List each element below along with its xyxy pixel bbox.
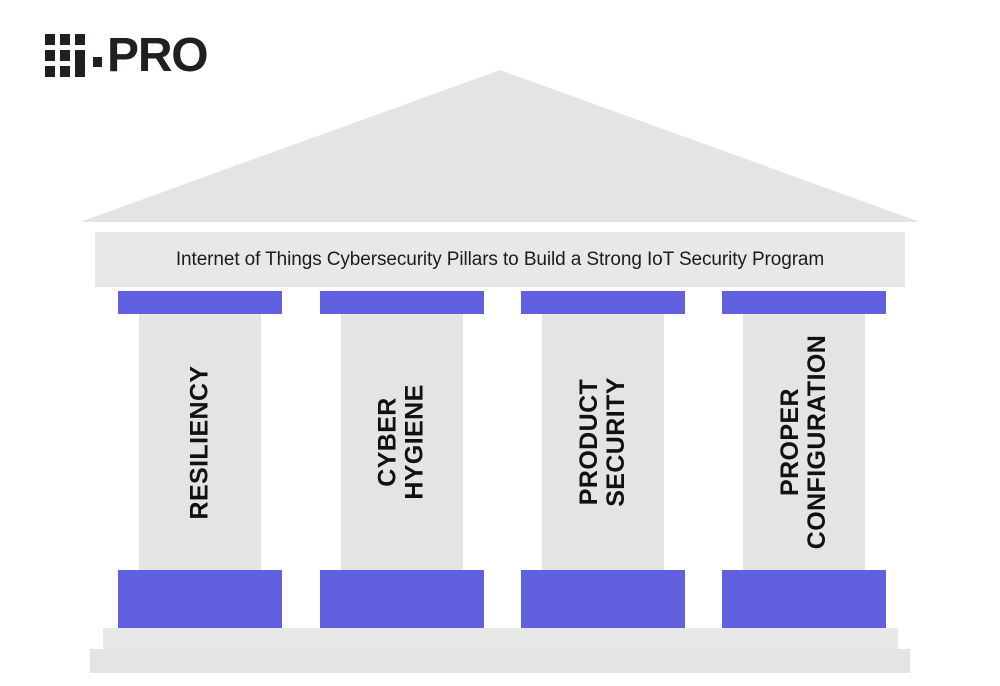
pillar-base-1 [118,570,282,628]
pillar-capital-2 [320,291,484,314]
pillar-capital-4 [722,291,886,314]
pillar-resiliency: RESILIENCY [118,291,282,628]
pillar-capital-1 [118,291,282,314]
pillar-label-4-line2: CONFIGURATION [804,335,831,549]
pillar-label-2: CYBER HYGIENE [341,314,463,570]
page-title: Internet of Things Cybersecurity Pillars… [95,232,905,287]
pillar-label-4: PROPER CONFIGURATION [743,314,865,570]
pillar-proper-configuration: PROPER CONFIGURATION [722,291,886,628]
pillar-label-3-line2: SECURITY [603,377,630,507]
pillar-base-2 [320,570,484,628]
pillar-label-2-line1: CYBER [374,397,402,487]
platform-lower-step [90,649,910,673]
temple-diagram: Internet of Things Cybersecurity Pillars… [0,0,1000,686]
pillar-label-4-line1: PROPER [776,388,804,496]
entablature-band: Internet of Things Cybersecurity Pillars… [95,232,905,287]
pillar-label-1: RESILIENCY [139,314,261,570]
pediment-roof [80,70,920,222]
platform-upper-step [103,628,898,649]
pillar-label-3: PRODUCT SECURITY [542,314,664,570]
pillar-cyber-hygiene: CYBER HYGIENE [320,291,484,628]
pillar-base-4 [722,570,886,628]
pillar-label-3-line1: PRODUCT [575,379,603,505]
infographic-canvas: PRO Internet of Things Cybersecurity Pil… [0,0,1000,686]
pillar-capital-3 [521,291,685,314]
pillar-base-3 [521,570,685,628]
pillar-label-1-line1: RESILIENCY [186,365,214,519]
pillar-product-security: PRODUCT SECURITY [521,291,685,628]
pillar-label-2-line2: HYGIENE [402,384,429,499]
